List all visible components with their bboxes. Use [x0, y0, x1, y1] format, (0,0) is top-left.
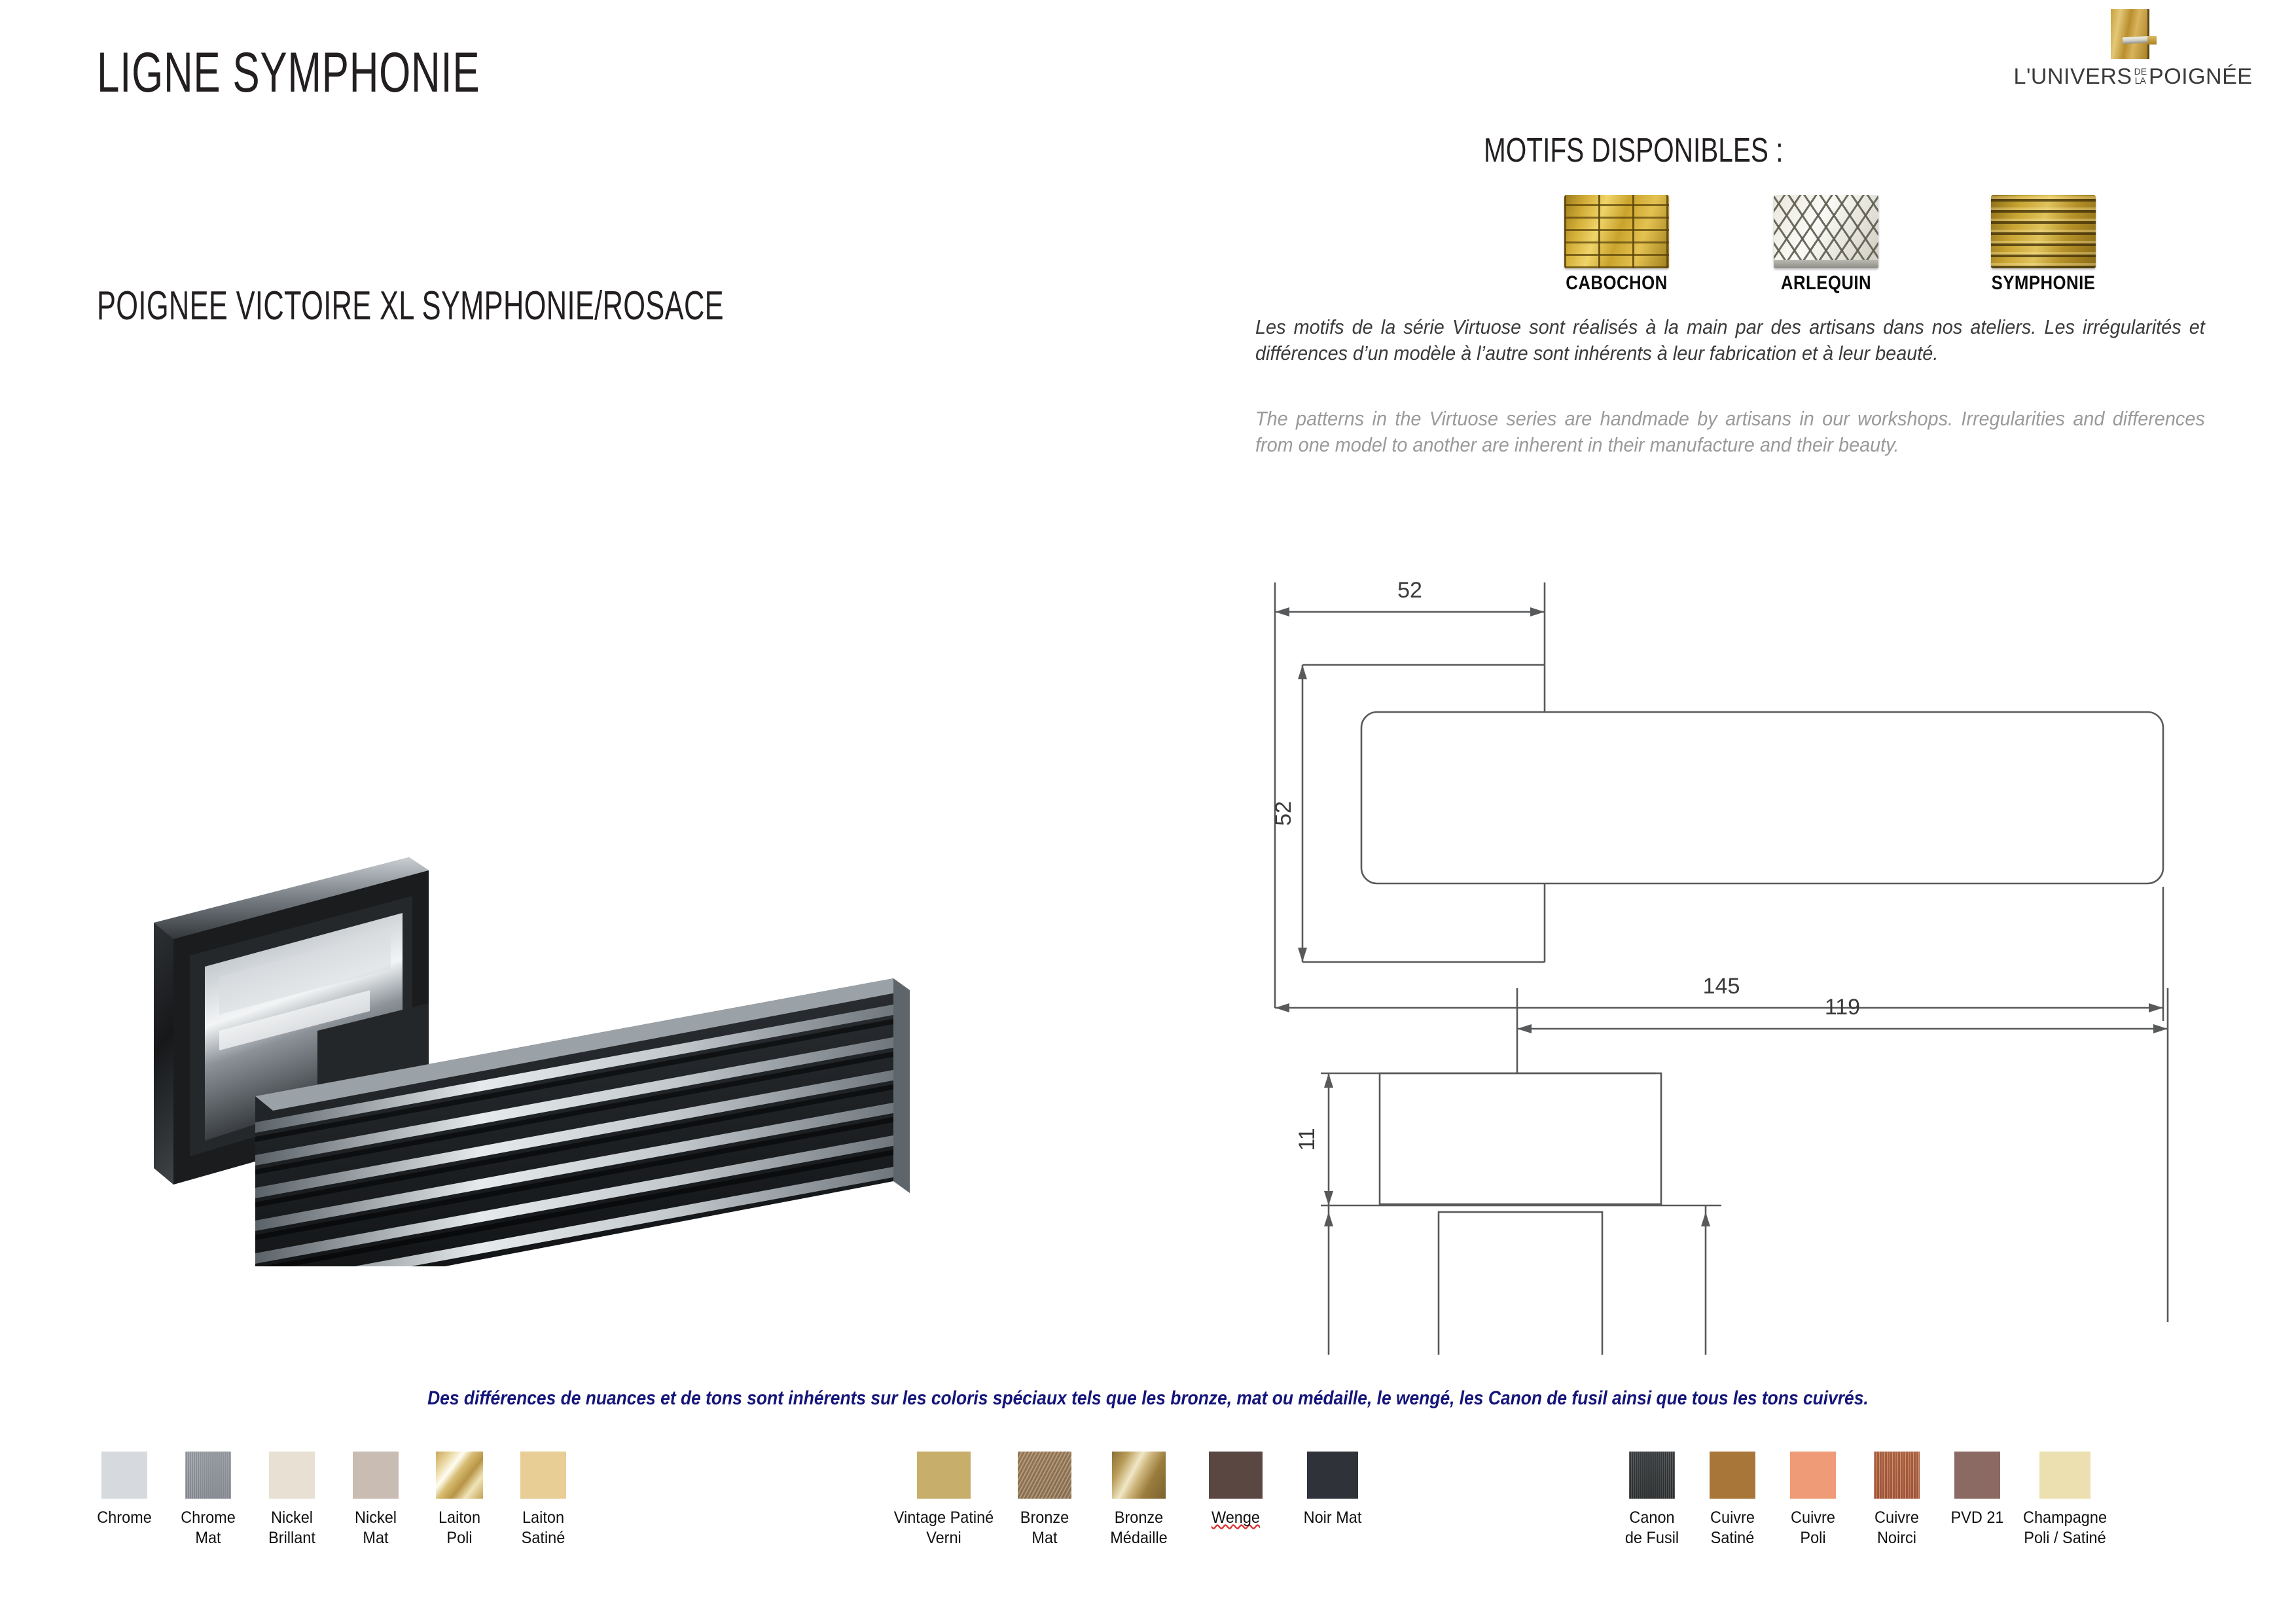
finish-color-chip — [520, 1452, 566, 1499]
finish-color-chip — [1112, 1452, 1166, 1499]
finish-item: NickelMat — [334, 1452, 418, 1548]
motifs-heading: MOTIFS DISPONIBLES : — [1484, 131, 1784, 170]
motif-arlequin: ARLEQUIN — [1751, 195, 1901, 294]
finish-item: Vintage PatinéVerni — [889, 1452, 999, 1548]
finish-variation-note: Des différences de nuances et de tons so… — [0, 1387, 2296, 1410]
product-subtitle: POIGNEE VICTOIRE XL SYMPHONIE/ROSACE — [97, 283, 724, 329]
finish-label: ChampagnePoli / Satiné — [2019, 1508, 2111, 1548]
brand-logo: L'UNIVERS DE LA POIGNÉE — [1986, 9, 2280, 90]
finish-group-standard: ChromeChromeMatNickelBrillantNickelMatLa… — [82, 1452, 585, 1548]
finish-item: LaitonPoli — [418, 1452, 501, 1548]
datasheet-page: LIGNE SYMPHONIE POIGNEE VICTOIRE XL SYMP… — [0, 0, 2296, 1623]
finish-item: CuivreSatiné — [1694, 1452, 1771, 1548]
finish-color-chip — [269, 1452, 315, 1499]
door-handle-logo-icon — [2111, 9, 2155, 59]
logo-text-de: DE — [2134, 67, 2147, 76]
finish-label: Noir Mat — [1287, 1508, 1378, 1528]
finish-item: ChampagnePoli / Satiné — [2016, 1452, 2114, 1548]
finish-item: PVD 21 — [1939, 1452, 2016, 1528]
dim-top-145: 145 — [1703, 974, 1740, 999]
logo-plate-shape — [2111, 9, 2149, 59]
finish-color-chip — [1307, 1452, 1358, 1499]
finish-label: LaitonPoli — [420, 1508, 499, 1548]
finish-label: NickelMat — [336, 1508, 415, 1548]
dim-top-52-horizontal: 52 — [1397, 578, 1422, 603]
logo-text-left: L'UNIVERS — [2014, 64, 2132, 90]
finish-item: NickelBrillant — [250, 1452, 334, 1548]
finish-item: Canonde Fusil — [1610, 1452, 1694, 1548]
symphonie-swatch-icon — [1991, 195, 2096, 268]
finish-item: Chrome — [82, 1452, 166, 1528]
finish-item: Wenge — [1187, 1452, 1284, 1528]
motif-label-arlequin: ARLEQUIN — [1761, 272, 1891, 294]
finish-label: Canonde Fusil — [1613, 1508, 1691, 1548]
finish-item: CuivreNoirci — [1855, 1452, 1939, 1548]
finish-group-copper: Canonde FusilCuivreSatinéCuivrePoliCuivr… — [1610, 1452, 2114, 1548]
motif-cabochon: CABOCHON — [1541, 195, 1692, 294]
page-title: LIGNE SYMPHONIE — [97, 41, 480, 105]
description-en: The patterns in the Virtuose series are … — [1255, 406, 2205, 459]
dim-top-52-vertical: 52 — [1271, 801, 1296, 826]
arlequin-swatch-icon — [1774, 195, 1878, 268]
logo-text-la: LA — [2134, 76, 2147, 85]
motif-label-cabochon: CABOCHON — [1552, 272, 1681, 294]
finish-label: BronzeMat — [1001, 1508, 1088, 1548]
finish-label: PVD 21 — [1941, 1508, 2014, 1528]
finish-item: BronzeMédaille — [1090, 1452, 1187, 1548]
finish-label: Vintage PatinéVerni — [892, 1508, 996, 1548]
finish-color-chip — [917, 1452, 971, 1499]
finish-item: BronzeMat — [999, 1452, 1090, 1548]
motif-label-symphonie: SYMPHONIE — [1979, 272, 2108, 294]
finish-item: CuivrePoli — [1771, 1452, 1855, 1548]
finish-item: Noir Mat — [1284, 1452, 1381, 1528]
finish-color-chip — [2039, 1452, 2090, 1499]
finish-color-chip — [1874, 1452, 1920, 1499]
cabochon-swatch-icon — [1564, 195, 1669, 268]
finish-group-bronze: Vintage PatinéVerniBronzeMatBronzeMédail… — [889, 1452, 1381, 1548]
finish-item: LaitonSatiné — [501, 1452, 585, 1548]
dim-side-11: 11 — [1295, 1128, 1319, 1150]
finish-label: Chrome — [85, 1508, 164, 1528]
logo-lever-knob-shape — [2147, 36, 2157, 45]
motif-symphonie: SYMPHONIE — [1968, 195, 2119, 294]
finish-label: CuivreSatiné — [1696, 1508, 1769, 1548]
finish-label: LaitonSatiné — [504, 1508, 583, 1548]
finish-color-chip — [1710, 1452, 1755, 1499]
finish-color-chip — [1790, 1452, 1836, 1499]
finish-color-chip — [101, 1452, 147, 1499]
product-photo — [121, 815, 933, 1266]
finish-label: CuivrePoli — [1774, 1508, 1852, 1548]
finish-label: NickelBrillant — [253, 1508, 331, 1548]
logo-text-stack: DE LA — [2134, 67, 2147, 85]
logo-text-right: POIGNÉE — [2149, 64, 2252, 90]
finish-item: ChromeMat — [166, 1452, 250, 1548]
finish-color-chip — [1018, 1452, 1071, 1499]
finish-label: CuivreNoirci — [1857, 1508, 1936, 1548]
dim-side-119: 119 — [1825, 995, 1860, 1020]
finish-label: BronzeMédaille — [1093, 1508, 1184, 1548]
finish-color-chip — [1209, 1452, 1263, 1499]
logo-wordmark: L'UNIVERS DE LA POIGNÉE — [1986, 64, 2280, 90]
finish-label: ChromeMat — [169, 1508, 247, 1548]
finish-color-chip — [185, 1452, 231, 1499]
finish-color-chip — [436, 1452, 483, 1499]
description-fr: Les motifs de la série Virtuose sont réa… — [1255, 314, 2205, 367]
finish-color-chip — [1954, 1452, 2000, 1499]
finish-color-chip — [353, 1452, 399, 1499]
finish-label: Wenge — [1190, 1508, 1281, 1528]
finish-color-chip — [1629, 1452, 1675, 1499]
technical-drawings: 52 52 145 119 — [1263, 504, 2219, 1355]
